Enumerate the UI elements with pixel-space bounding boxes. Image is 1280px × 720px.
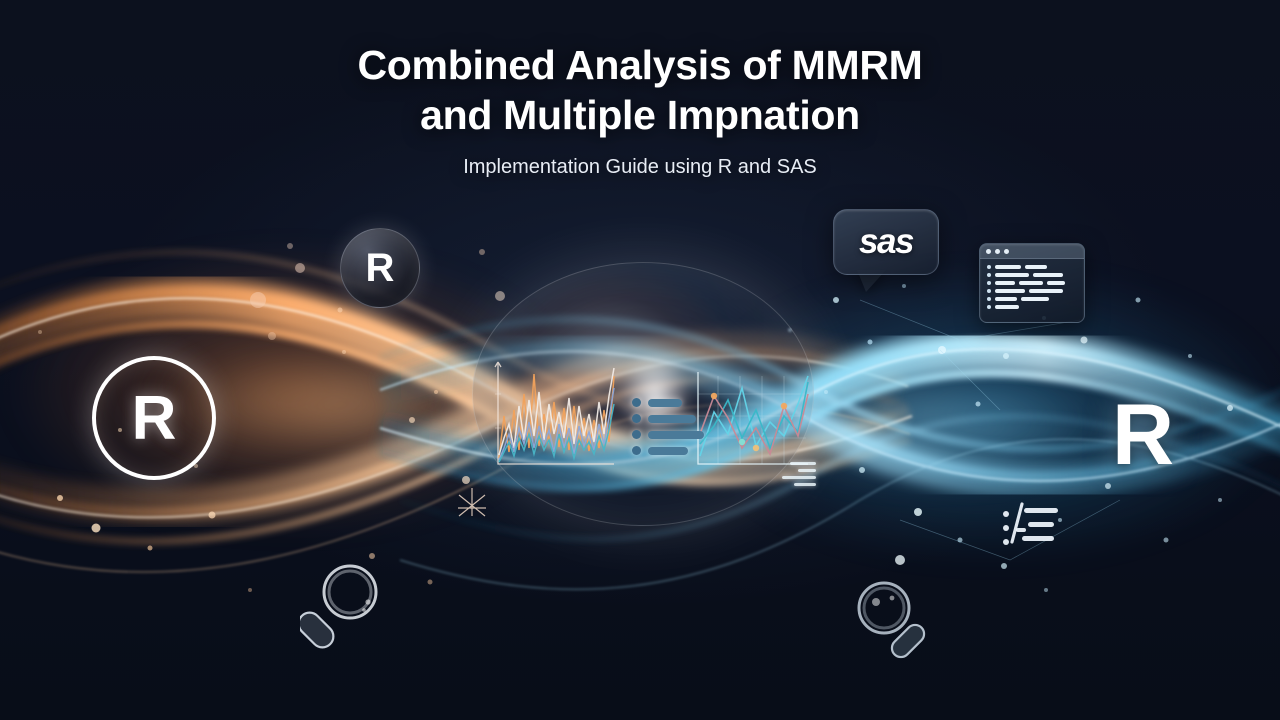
code-segment (995, 297, 1017, 301)
bullet-list-row (632, 398, 704, 407)
r-logo-plain[interactable]: R (1112, 386, 1174, 485)
code-row (987, 273, 1077, 277)
chart-left (488, 358, 618, 476)
hero-slide: R R R sas (0, 0, 1280, 720)
code-segment (995, 305, 1019, 309)
code-bullet (987, 289, 991, 293)
code-bullet (987, 273, 991, 277)
bullet-dot (632, 430, 641, 439)
window-dot (1004, 249, 1009, 254)
code-row (987, 281, 1077, 285)
side-line (794, 483, 816, 486)
side-lines-decor (782, 462, 816, 486)
code-bullet (987, 297, 991, 301)
code-segment (1025, 265, 1047, 269)
page-subtitle: Implementation Guide using R and SAS (0, 156, 1280, 179)
code-segment (1019, 281, 1043, 285)
code-segment (995, 273, 1029, 277)
r-logo-circle[interactable]: R (92, 356, 216, 480)
code-row (987, 289, 1077, 293)
code-list-icon[interactable] (1000, 500, 1076, 558)
bullet-dot (632, 446, 641, 455)
page-title-line-1: Combined Analysis of MMRM (0, 40, 1280, 90)
magnifier-icon[interactable] (300, 558, 386, 650)
r-logo-circle-label: R (132, 383, 177, 454)
page-title-line-2: and Multiple Impnation (0, 90, 1280, 140)
r-logo-plain-label: R (1112, 387, 1174, 483)
bullet-dot (632, 414, 641, 423)
window-dot (995, 249, 1000, 254)
code-window-body (980, 259, 1084, 315)
bullet-dot (632, 398, 641, 407)
code-segment (1033, 273, 1063, 277)
side-line (782, 476, 816, 479)
code-segment (1047, 281, 1065, 285)
page-title: Combined Analysis of MMRM and Multiple I… (0, 40, 1280, 140)
magnifier-icon[interactable] (852, 578, 934, 662)
code-row (987, 305, 1077, 309)
bullet-bar (648, 447, 688, 455)
bullet-list-row (632, 430, 704, 439)
side-line (798, 469, 816, 472)
bullet-list-row (632, 414, 704, 423)
bullet-bar (648, 415, 696, 423)
code-segment (1029, 289, 1063, 293)
bullet-list-icon (632, 398, 704, 455)
code-segment (1021, 297, 1049, 301)
sas-logo-bubble[interactable]: sas (833, 209, 939, 275)
r-logo-sphere-label: R (366, 246, 395, 291)
code-window-icon[interactable] (979, 243, 1085, 323)
bullet-bar (648, 399, 682, 407)
code-segment (995, 265, 1021, 269)
code-segment (995, 281, 1015, 285)
code-bullet (987, 305, 991, 309)
bullet-list-row (632, 446, 704, 455)
code-window-titlebar (980, 244, 1084, 259)
code-row (987, 297, 1077, 301)
r-logo-sphere[interactable]: R (340, 228, 420, 308)
title-block: Combined Analysis of MMRM and Multiple I… (0, 40, 1280, 179)
code-bullet (987, 265, 991, 269)
code-segment (995, 289, 1025, 293)
sparkle-icon (452, 486, 492, 520)
code-row (987, 265, 1077, 269)
sas-logo-label: sas (859, 222, 913, 262)
side-line (790, 462, 816, 465)
window-dot (986, 249, 991, 254)
code-bullet (987, 281, 991, 285)
bullet-bar (648, 431, 704, 439)
